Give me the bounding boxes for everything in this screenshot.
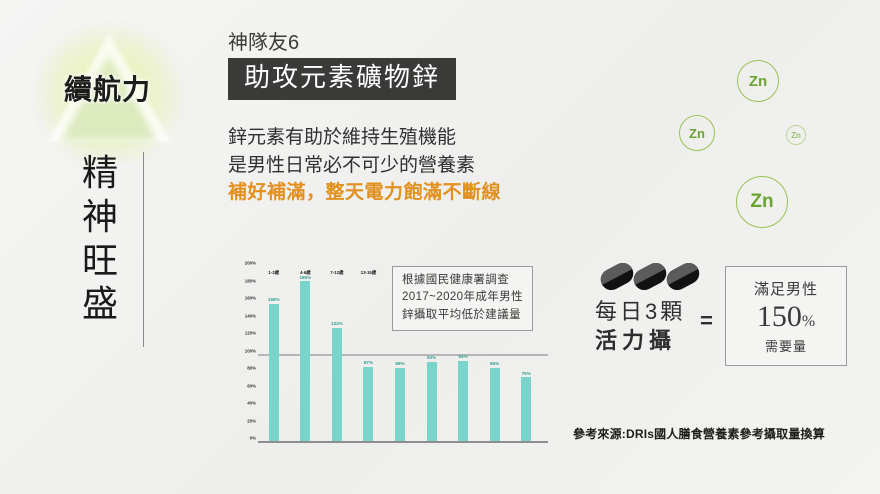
subtext-line-3-highlight: 補好補滿，整天電力飽滿不斷線 — [228, 179, 501, 207]
capsule-top-half — [597, 259, 632, 284]
zn-bubble-icon-2: Zn — [679, 115, 715, 151]
callout-line-2: 2017~2020年成年男性 — [402, 289, 523, 306]
chart-bar-value-label: 75% — [522, 371, 531, 376]
zn-bubble-icon-3: Zn — [786, 125, 806, 145]
result-bottom-label: 需要量 — [765, 336, 807, 355]
result-value: 150% — [757, 300, 815, 334]
chart-bar-value-label: 86% — [395, 361, 404, 366]
result-top-label: 滿足男性 — [754, 278, 818, 299]
chart-bar-group: 87% — [353, 360, 385, 443]
chart-y-tick: 200% — [232, 261, 256, 266]
chart-bar-value-label: 159% — [268, 297, 280, 302]
chart-bar-group: 94% — [447, 354, 479, 443]
chart-bar — [363, 367, 373, 443]
chart-bar — [269, 304, 279, 443]
source-citation: 參考來源:DRIs國人膳食營養素參考攝取量換算 — [573, 425, 825, 442]
capsule-icon-3 — [663, 259, 703, 294]
vertical-slogan-char-2: 神 — [62, 196, 138, 238]
dosage-line-2: 活力攝 — [595, 327, 685, 356]
chart-bar — [458, 361, 468, 443]
chart-y-tick: 60% — [232, 383, 256, 388]
result-percent-sign: % — [802, 313, 815, 330]
chart-bar — [521, 377, 531, 443]
vertical-slogan-char-1: 精 — [62, 152, 138, 194]
vertical-slogan: 精 神 旺 盛 — [62, 152, 138, 327]
left-badge-panel: 續航力 精 神 旺 盛 — [0, 0, 215, 494]
chart-bar — [395, 368, 405, 443]
zn-bubble-icon-1: Zn — [737, 60, 779, 102]
subtext-line-1: 鋅元素有助於維持生殖機能 — [228, 124, 501, 152]
headline-kicker: 神隊友6 — [228, 26, 299, 55]
chart-y-tick: 160% — [232, 296, 256, 301]
chart-x-axis-line — [258, 441, 548, 443]
capsule-icons — [600, 264, 705, 296]
chart-bar-group: 75% — [510, 371, 542, 443]
vertical-slogan-char-3: 旺 — [62, 240, 138, 282]
badge-label: 續航力 — [0, 68, 215, 108]
chart-x-tick-label: 13-15歲 — [361, 270, 377, 276]
chart-x-tick-label: 1-3歲 — [268, 270, 279, 276]
chart-y-tick: 120% — [232, 331, 256, 336]
chart-bar — [490, 368, 500, 443]
equals-sign: = — [700, 308, 713, 334]
vertical-slogan-char-4: 盛 — [62, 283, 138, 325]
callout-line-1: 根據國民健康署調查 — [402, 272, 523, 289]
result-number: 150 — [757, 300, 802, 333]
chart-bar-group: 93% — [416, 355, 448, 443]
chart-y-tick: 40% — [232, 401, 256, 406]
chart-bar-value-label: 86% — [490, 361, 499, 366]
chart-bar-group: 159% — [258, 297, 290, 443]
chart-bar-group: 185% — [290, 275, 322, 443]
chart-bar — [427, 362, 437, 443]
chart-x-tick-label: 4-6歲 — [300, 270, 311, 276]
capsule-top-half — [663, 259, 698, 284]
callout-line-3: 鋅攝取平均低於建議量 — [402, 307, 523, 324]
subtext-line-2: 是男性日常必不可少的營養素 — [228, 152, 501, 180]
dosage-text: 每日3顆 活力攝 — [595, 298, 685, 355]
chart-y-tick: 180% — [232, 278, 256, 283]
chart-bar-group: 86% — [384, 361, 416, 443]
chart-bar — [300, 281, 310, 443]
result-box: 滿足男性 150% 需要量 — [725, 266, 847, 366]
chart-x-tick-label: 7-12歲 — [330, 270, 343, 276]
chart-bar-group: 86% — [479, 361, 511, 443]
chart-y-tick: 80% — [232, 366, 256, 371]
headline-title-banner: 助攻元素礦物鋅 — [228, 58, 456, 100]
chart-bar-value-label: 132% — [331, 321, 343, 326]
chart-bar — [332, 328, 342, 444]
chart-bar-group: 132% — [321, 321, 353, 443]
chart-y-tick: 100% — [232, 348, 256, 353]
chart-y-tick: 0% — [232, 436, 256, 441]
chart-bar-value-label: 93% — [427, 355, 436, 360]
survey-callout-box: 根據國民健康署調查 2017~2020年成年男性 鋅攝取平均低於建議量 — [392, 266, 533, 331]
dosage-line-1: 每日3顆 — [595, 298, 685, 327]
capsule-top-half — [630, 259, 665, 284]
chart-y-tick: 20% — [232, 418, 256, 423]
headline-subtext: 鋅元素有助於維持生殖機能 是男性日常必不可少的營養素 補好補滿，整天電力飽滿不斷… — [228, 124, 501, 207]
chart-y-tick: 140% — [232, 313, 256, 318]
zn-bubble-icon-4: Zn — [736, 176, 788, 228]
chart-bar-value-label: 94% — [459, 354, 468, 359]
chart-bar-value-label: 87% — [364, 360, 373, 365]
vertical-divider — [143, 152, 144, 347]
slide-canvas: 續航力 精 神 旺 盛 神隊友6 助攻元素礦物鋅 鋅元素有助於維持生殖機能 是男… — [0, 0, 880, 494]
